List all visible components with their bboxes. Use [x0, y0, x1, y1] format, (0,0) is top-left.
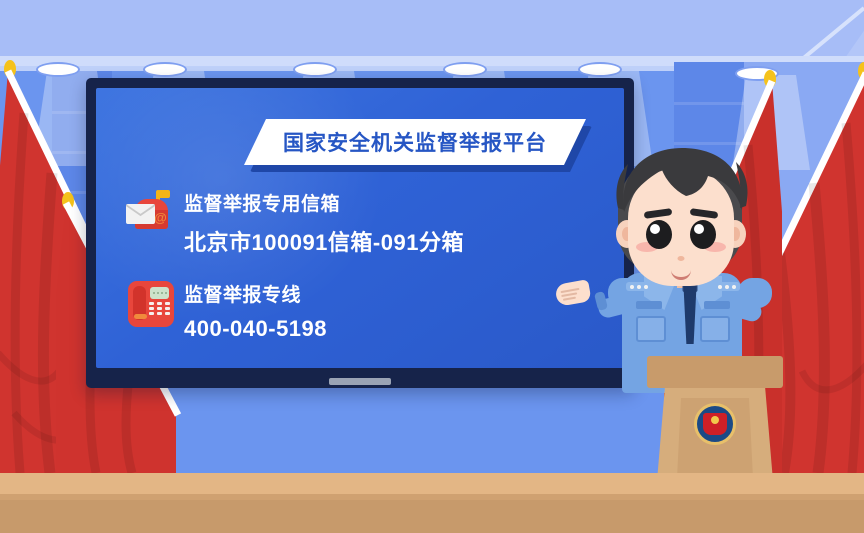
epaulette-left	[626, 282, 652, 291]
info-row-hotline: 监督举报专线 400-040-5198	[118, 279, 588, 342]
page-title: 国家安全机关监督举报平台	[283, 127, 547, 157]
hair-icon	[612, 146, 752, 226]
uniform-pocket-right	[700, 316, 730, 342]
hotline-number: 400-040-5198	[184, 316, 327, 342]
banner-face: 国家安全机关监督举报平台	[244, 119, 586, 165]
screen-display: 国家安全机关监督举报平台 @	[96, 88, 624, 368]
mailbox-label: 监督举报专用信箱	[184, 189, 464, 216]
screen-title-banner: 国家安全机关监督举报平台	[244, 119, 586, 165]
telephone-icon-wrap	[118, 279, 184, 327]
mouth	[671, 268, 691, 280]
hotline-text: 监督举报专线 400-040-5198	[184, 279, 327, 342]
screen-stand	[329, 378, 391, 385]
presentation-screen: 国家安全机关监督举报平台 @	[86, 78, 634, 388]
stage-floor-upper	[0, 473, 864, 495]
uniform-badge-left	[636, 301, 662, 309]
uniform-pocket-left	[636, 316, 666, 342]
mailbox-icon: @	[126, 190, 176, 234]
uniform-badge-right	[704, 301, 730, 309]
mailbox-text: 监督举报专用信箱 北京市100091信箱-091分箱	[184, 188, 464, 257]
info-row-mailbox: @ 监督举报专用信箱 北京市100091信箱-091分箱	[118, 188, 588, 257]
stage-floor-lower	[0, 500, 864, 533]
left-cuff	[594, 291, 608, 311]
podium-top	[647, 356, 783, 388]
mailbox-address: 北京市100091信箱-091分箱	[184, 225, 464, 257]
right-shoulder	[738, 278, 772, 308]
nose	[678, 256, 685, 261]
screen-info-list: @ 监督举报专用信箱 北京市100091信箱-091分箱	[118, 188, 588, 364]
national-emblem-icon	[694, 403, 736, 445]
mailbox-icon-wrap: @	[118, 188, 184, 234]
hotline-label: 监督举报专线	[184, 280, 327, 307]
epaulette-right	[714, 282, 740, 291]
telephone-icon	[128, 281, 174, 327]
conference-stage-illustration: 国家安全机关监督举报平台 @	[0, 0, 864, 533]
envelope-flap-icon	[126, 204, 155, 224]
